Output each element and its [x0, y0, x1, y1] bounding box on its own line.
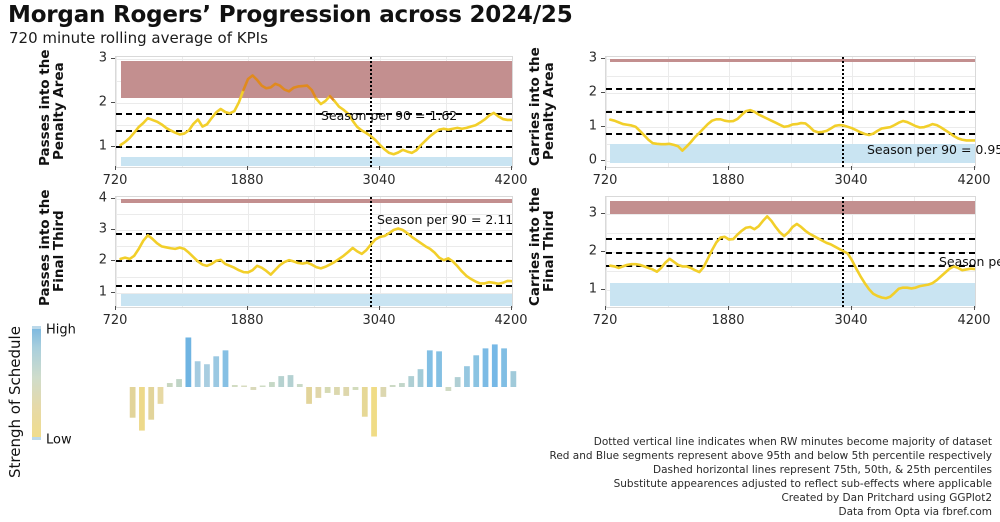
y-axis-tick-label: 1	[85, 139, 107, 154]
x-axis-tick-mark	[115, 306, 116, 310]
season-per-90-label: Season per 90 = 2.11	[377, 212, 513, 227]
x-axis-tick-mark	[974, 306, 975, 310]
strength-of-schedule-bar-chart	[128, 330, 518, 442]
footnote-line-2: Red and Blue segments represent above 95…	[472, 450, 992, 464]
y-axis-tick-label: 3	[575, 206, 597, 221]
bar	[492, 344, 498, 387]
y-axis-tick-label: 0	[575, 152, 597, 167]
legend-cap-top	[32, 326, 41, 329]
credit-author: Created by Dan Pritchard using GGPlot2	[472, 492, 992, 506]
x-axis-tick-label: 720	[593, 313, 618, 328]
bar	[278, 376, 284, 387]
bar	[195, 361, 201, 387]
x-axis-tick-label: 3040	[834, 173, 867, 188]
y-axis-tick-label: 1	[85, 284, 107, 299]
bar	[158, 387, 164, 404]
credits: Created by Dan Pritchard using GGPlot2 D…	[472, 492, 992, 520]
bar	[390, 385, 396, 387]
y-axis-tick-label: 2	[85, 253, 107, 268]
chart-panel-carries-penalty-area: Carries into the Penalty AreaSeason per …	[516, 48, 1000, 182]
season-per-90-label: Season per 90 = 0.95	[867, 142, 1000, 157]
bar	[232, 385, 238, 387]
y-axis-tick-label: 1	[575, 118, 597, 133]
y-axis-tick-mark	[601, 58, 605, 59]
x-axis-tick-label: 1880	[230, 313, 263, 328]
bar	[343, 387, 349, 396]
bar	[185, 337, 191, 387]
legend-label-low: Low	[46, 433, 72, 448]
footnotes: Dotted vertical line indicates when RW m…	[472, 436, 992, 492]
x-axis-tick-mark	[605, 166, 606, 170]
x-axis-tick-label: 720	[593, 173, 618, 188]
y-axis-tick-mark	[601, 92, 605, 93]
chart-panel-carries-final-third: Carries into the Final ThirdSeason per 9…	[516, 188, 1000, 322]
x-axis-tick-mark	[728, 306, 729, 310]
bar	[269, 382, 275, 387]
x-axis-tick-mark	[851, 166, 852, 170]
y-axis-tick-label: 2	[575, 244, 597, 259]
y-axis-tick-mark	[111, 260, 115, 261]
x-axis-tick-label: 3040	[834, 313, 867, 328]
y-axis-tick-mark	[111, 58, 115, 59]
bar	[464, 366, 470, 387]
x-axis-tick-label: 1880	[230, 173, 263, 188]
bar	[213, 356, 219, 387]
x-axis-tick-label: 3040	[362, 313, 395, 328]
legend-gradient-bar	[32, 328, 41, 438]
y-axis-tick-mark	[601, 160, 605, 161]
x-axis-tick-mark	[728, 166, 729, 170]
bar	[167, 383, 173, 387]
bar	[288, 375, 294, 387]
y-axis-tick-mark	[111, 292, 115, 293]
y-axis-tick-label: 4	[85, 190, 107, 205]
plot-area	[605, 196, 976, 308]
bar	[204, 364, 210, 387]
page-subtitle: 720 minute rolling average of KPIs	[9, 29, 268, 47]
y-axis-tick-mark	[111, 229, 115, 230]
legend-cap-bottom	[32, 437, 41, 440]
page-title: Morgan Rogers’ Progression across 2024/2…	[8, 2, 573, 28]
y-axis-tick-label: 2	[575, 84, 597, 99]
y-axis-tick-label: 1	[575, 281, 597, 296]
y-axis-tick-label: 2	[85, 95, 107, 110]
x-axis-tick-label: 4200	[957, 313, 990, 328]
x-axis-tick-label: 720	[103, 173, 128, 188]
series-line-wrapper	[606, 197, 975, 307]
x-axis-tick-mark	[974, 166, 975, 170]
bar	[483, 348, 489, 387]
y-axis-tick-label: 3	[575, 50, 597, 65]
footnote-line-3: Dashed horizontal lines represent 75th, …	[472, 464, 992, 478]
series-line-segment	[243, 75, 316, 98]
y-axis-tick-label: 3	[85, 222, 107, 237]
bar	[436, 351, 442, 387]
series-line-segment	[121, 90, 244, 145]
x-axis-tick-mark	[379, 306, 380, 310]
x-axis-tick-label: 3040	[362, 173, 395, 188]
bar	[241, 386, 247, 388]
bar	[260, 386, 266, 388]
x-axis-tick-mark	[379, 166, 380, 170]
bar	[418, 369, 424, 387]
x-axis-tick-mark	[511, 166, 512, 170]
x-axis-tick-mark	[115, 166, 116, 170]
y-axis-tick-mark	[601, 251, 605, 252]
y-axis-tick-mark	[111, 146, 115, 147]
credit-data-source: Data from Opta via fbref.com	[472, 506, 992, 520]
x-axis-tick-label: 720	[103, 313, 128, 328]
y-axis-label: Carries into the Penalty Area	[529, 56, 563, 166]
bar	[315, 387, 321, 398]
y-axis-tick-mark	[111, 102, 115, 103]
bar	[306, 387, 312, 404]
y-axis-tick-label: 3	[85, 51, 107, 66]
y-axis-tick-mark	[601, 213, 605, 214]
bar	[139, 387, 145, 431]
x-axis-tick-label: 1880	[711, 173, 744, 188]
footnote-line-1: Dotted vertical line indicates when RW m…	[472, 436, 992, 450]
x-axis-tick-mark	[247, 166, 248, 170]
y-axis-tick-mark	[601, 126, 605, 127]
series-line-segment	[610, 216, 975, 298]
y-axis-tick-mark	[601, 289, 605, 290]
bar	[427, 350, 433, 387]
season-per-90-label: Season per 90 = 1.62	[321, 108, 457, 123]
bar	[176, 379, 182, 387]
bar	[297, 384, 303, 387]
grid-line-vertical	[512, 57, 513, 167]
bar	[445, 387, 451, 391]
bar	[510, 371, 516, 387]
bar	[473, 355, 479, 387]
x-axis-tick-label: 4200	[957, 173, 990, 188]
x-axis-tick-mark	[851, 306, 852, 310]
bar	[380, 387, 386, 397]
bar	[362, 387, 368, 417]
series-line-segment	[121, 228, 512, 283]
bar	[223, 350, 229, 387]
bar	[325, 387, 331, 393]
bar	[334, 387, 340, 395]
legend-title: Strengh of Schedule	[4, 318, 26, 486]
bar	[148, 387, 154, 420]
y-axis-label: Passes into the Penalty Area	[39, 56, 73, 166]
bar	[371, 387, 377, 437]
bar	[408, 376, 414, 387]
bar	[130, 387, 136, 418]
bar	[250, 387, 256, 390]
season-per-90-label: Season per 90 = 1.97	[939, 254, 1000, 269]
bar	[501, 348, 507, 387]
chart-panel-passes-penalty-area: Passes into the Penalty AreaSeason per 9…	[0, 48, 516, 182]
grid-line-vertical	[975, 197, 976, 307]
series-line-segment	[316, 96, 330, 104]
x-axis-tick-label: 1880	[711, 313, 744, 328]
bar	[353, 387, 359, 390]
bar	[399, 383, 405, 387]
x-axis-tick-mark	[247, 306, 248, 310]
bar	[455, 377, 461, 387]
footnote-line-4: Substitute appearences adjusted to refle…	[472, 478, 992, 492]
chart-panel-passes-final-third: Passes into the Final ThirdSeason per 90…	[0, 188, 516, 322]
x-axis-tick-mark	[605, 306, 606, 310]
y-axis-label: Passes into the Final Third	[39, 196, 73, 306]
x-axis-tick-mark	[511, 306, 512, 310]
y-axis-label: Carries into the Final Third	[529, 196, 563, 306]
legend-label-high: High	[46, 323, 76, 338]
y-axis-tick-mark	[111, 198, 115, 199]
